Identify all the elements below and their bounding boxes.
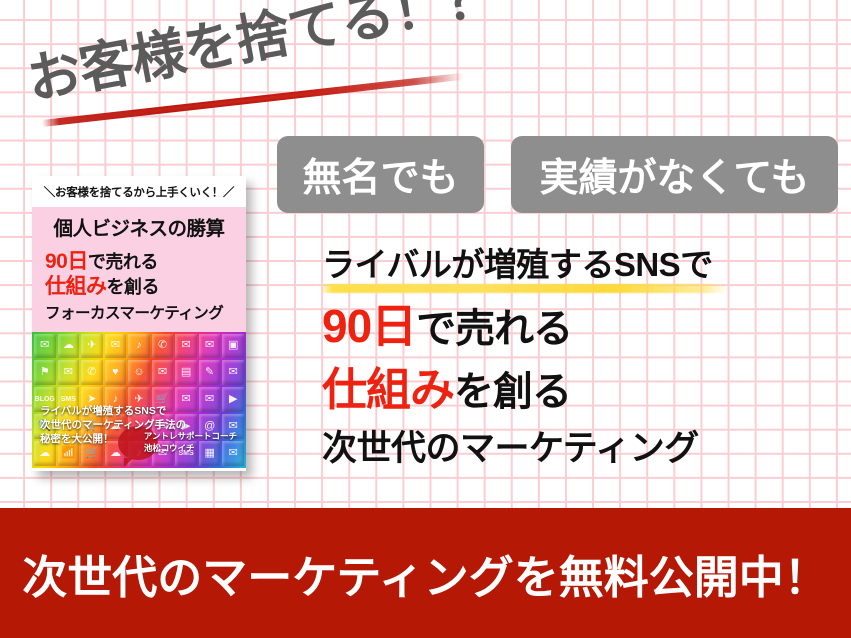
icon-tile: ♥: [105, 360, 127, 385]
icon-tile: ⚑: [34, 360, 56, 385]
icon-tile: ▶: [222, 387, 244, 412]
book-title: 個人ビジネスの勝算: [32, 212, 246, 241]
icon-tile: ✆: [152, 334, 174, 359]
book-subtitle-1: 90日で売れる: [32, 250, 246, 275]
copy-line-2: 90日で売れる: [322, 303, 842, 349]
copy-line-1: ライバルが増殖するSNSで: [322, 248, 713, 281]
book-subtitle-2: 仕組みを創る: [32, 275, 246, 300]
copy-line-2-accent: 90日: [322, 300, 416, 352]
copy-line-3-accent: 仕組み: [322, 364, 454, 415]
icon-tile: ☁: [58, 334, 80, 359]
badge-unknown-brand: 無名でも: [277, 136, 484, 213]
cta-banner: 次世代のマーケティングを無料公開中！: [0, 508, 851, 638]
book-cover: ＼お客様を捨てるから上手くいく！／ 個人ビジネスの勝算 90日で売れる 仕組みを…: [32, 176, 246, 471]
book-cover-photo: ✉☁✈✉♪✆✉✉▣⚑✉✆♥☺✉▤✎✉BLOGSMS➤♪✈🛒✉✉▶🔍👍🛒☁♪✉▶@…: [32, 332, 246, 468]
badge-no-track-record: 実績がなくても: [511, 136, 838, 213]
icon-tile: ✈: [81, 334, 103, 359]
badge-label: 無名でも: [302, 147, 458, 203]
book-subtitle-3: フォーカスマーケティング: [32, 301, 246, 323]
icon-tile: ✆: [81, 360, 103, 385]
icon-tile: ✉: [152, 360, 174, 385]
icon-tile: ✉: [199, 334, 221, 359]
copy-line-2-rest: で売れる: [416, 307, 572, 351]
book-subtitle-2-rest: を創る: [107, 277, 160, 297]
icon-tile: ✎: [199, 360, 221, 385]
book-subtitle-2-accent: 仕組み: [45, 275, 107, 298]
copy-line-3-rest: を創る: [454, 370, 571, 414]
book-pink-panel: 個人ビジネスの勝算 90日で売れる 仕組みを創る フォーカスマーケティング: [32, 207, 246, 332]
icon-tile: ▣: [222, 334, 244, 359]
icon-tile: ✉: [34, 334, 56, 359]
headline-block: お客様を捨てる！？: [22, 28, 492, 138]
icon-tile: ✉: [58, 360, 80, 385]
copy-line-3: 仕組みを創る: [322, 367, 842, 412]
icon-tile: ✉: [222, 360, 244, 385]
book-tagline: ＼お客様を捨てるから上手くいく！／: [32, 176, 246, 207]
copy-block: ライバルが増殖するSNSで 90日で売れる 仕組みを創る 次世代のマーケティング: [322, 248, 842, 466]
badge-label: 実績がなくても: [540, 147, 810, 203]
icon-tile: ☺: [128, 360, 150, 385]
book-author-credit: アントレサポートコーチ 池松コウイチ: [144, 430, 237, 455]
icon-tile: ✉: [175, 334, 197, 359]
icon-tile: ✉: [105, 334, 127, 359]
book-subtitle-1-rest: で売れる: [88, 252, 158, 272]
cta-banner-text: 次世代のマーケティングを無料公開中！: [22, 541, 828, 606]
icon-tile: ♪: [128, 334, 150, 359]
icon-tile: ✉: [199, 387, 221, 412]
copy-line-1-text: ライバルが増殖するSNSで: [322, 246, 713, 283]
book-subtitle-1-accent: 90日: [45, 250, 88, 273]
landing-page-canvas: お客様を捨てる！？ 無名でも 実績がなくても ライバルが増殖するSNSで 90日…: [0, 0, 851, 638]
copy-line-4: 次世代のマーケティング: [322, 431, 842, 466]
icon-tile: ▤: [175, 360, 197, 385]
copy-line-1-wrap: ライバルが増殖するSNSで: [322, 248, 842, 281]
highlight-underline: [320, 284, 728, 293]
page-title: お客様を捨てる！？: [23, 0, 502, 108]
